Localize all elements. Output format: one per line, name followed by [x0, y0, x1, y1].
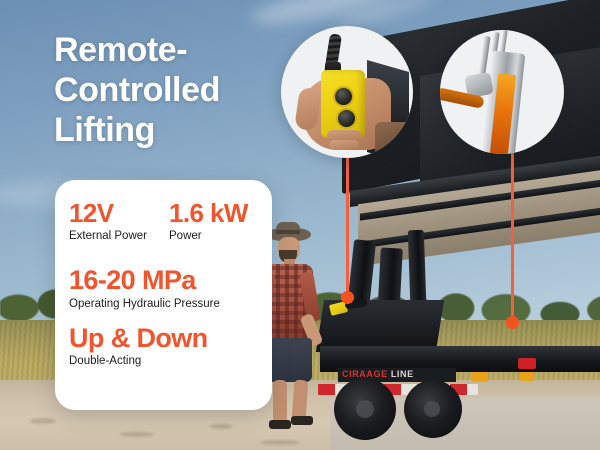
- ground-detail: [30, 418, 56, 424]
- spec-operating-pressure: 16-20 MPa Operating Hydraulic Pressure: [69, 266, 272, 309]
- promo-banner: CIRAAGE LINE: [0, 0, 600, 450]
- shorts: [268, 338, 312, 382]
- spec-label: External Power: [69, 230, 169, 242]
- wheel-hub: [424, 401, 440, 417]
- marker-light-amber: [472, 372, 488, 382]
- spec-power: 1.6 kW Power: [169, 200, 269, 242]
- spec-label: Double-Acting: [69, 355, 272, 367]
- remote-button-down: [336, 108, 357, 129]
- spec-label: Operating Hydraulic Pressure: [69, 298, 272, 310]
- spec-direction: Up & Down Double-Acting: [69, 324, 272, 367]
- connector-dot-cylinder: [506, 316, 519, 329]
- hat-band: [276, 230, 300, 234]
- sleeve: [375, 122, 413, 158]
- inset-remote-control: [281, 26, 413, 158]
- spec-value: 1.6 kW: [169, 200, 269, 227]
- boot-right: [291, 416, 313, 425]
- trailer-brand-text: CIRAAGE LINE: [342, 369, 414, 379]
- spec-external-power: 12V External Power: [69, 200, 169, 242]
- headline-line-1: Remote-: [54, 30, 294, 70]
- finger: [329, 140, 359, 150]
- spec-row-top: 12V External Power 1.6 kW Power: [69, 200, 272, 256]
- leg-left: [273, 380, 287, 424]
- spec-value: 12V: [69, 200, 169, 227]
- connector-line-cylinder: [511, 150, 514, 322]
- spec-value: Up & Down: [69, 324, 272, 352]
- leg-right: [292, 380, 309, 421]
- connector-dot-remote: [341, 291, 354, 304]
- ground-detail: [120, 432, 154, 437]
- wheel-hub: [356, 400, 374, 418]
- inset-hydraulic-cylinder: [440, 30, 564, 154]
- brand-text-right: LINE: [391, 369, 414, 379]
- boot-left: [269, 420, 291, 429]
- spec-value: 16-20 MPa: [69, 266, 272, 294]
- spec-card: 12V External Power 1.6 kW Power 16-20 MP…: [55, 180, 272, 410]
- connector-line-remote: [346, 150, 349, 298]
- remote-button-up: [333, 86, 354, 107]
- ground-detail: [260, 440, 300, 445]
- marker-light-red: [518, 358, 536, 369]
- ground-detail: [210, 424, 232, 429]
- spec-label: Power: [169, 230, 269, 242]
- page-title: Remote- Controlled Lifting: [54, 30, 294, 150]
- headline-line-3: Lifting: [54, 110, 294, 150]
- marker-light-amber: [520, 372, 534, 381]
- headline-line-2: Controlled: [54, 70, 294, 110]
